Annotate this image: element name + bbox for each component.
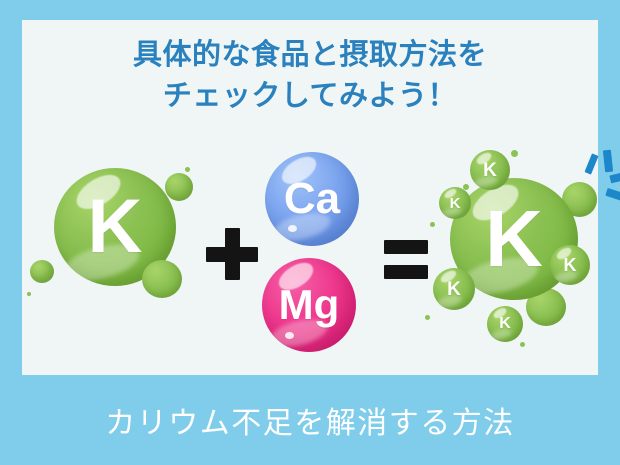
bubble-satellite-k-upper-left: K: [439, 187, 471, 219]
bubble-satellite-k-top: K: [470, 150, 510, 190]
bubble-satellite-left-bottom: [142, 260, 182, 298]
equation-row: K + Ca Mg =: [22, 140, 598, 365]
plus-bar-vertical: [225, 228, 240, 280]
sparkle-ray-1: [585, 153, 599, 174]
bottom-banner: カリウム不足を解消する方法: [0, 375, 620, 465]
speck-right-a: [511, 150, 518, 157]
satellite-label-k-lower-left: K: [447, 280, 461, 299]
banner-title: カリウム不足を解消する方法: [105, 398, 515, 442]
bubble-calcium: Ca: [265, 152, 359, 246]
sparkle-ray-2: [603, 150, 613, 173]
bubble-label-k-right: K: [485, 199, 543, 279]
bubble-satellite-left-lower: [30, 260, 54, 283]
sparkle-ray-3: [609, 171, 620, 184]
equals-bar-bottom: [384, 265, 428, 279]
operator-plus: +: [206, 228, 258, 280]
infographic-root: 具体的な食品と摂取方法を チェックしてみよう！ K + Ca Mg: [0, 0, 620, 465]
headline-line-2: チェックしてみよう！: [0, 75, 620, 116]
bubble-label-mg: Mg: [279, 284, 340, 326]
bubble-satellite-k-lower-left: K: [433, 268, 475, 310]
operator-equals: =: [384, 240, 428, 280]
speck-right-c: [430, 222, 435, 227]
bubble-satellite-k-bottom: K: [487, 306, 523, 342]
speck-left-b: [27, 292, 31, 296]
satellite-label-k-upper-left: K: [450, 196, 461, 211]
page-title: 具体的な食品と摂取方法を チェックしてみよう！: [0, 34, 620, 116]
bubble-satellite-k-right: K: [550, 245, 590, 285]
satellite-label-k-bottom: K: [499, 316, 511, 332]
speck-right-e: [425, 315, 430, 320]
bubble-satellite-left-top: [165, 173, 193, 201]
bubble-label-k-left: K: [88, 189, 143, 265]
sparkle-ray-4: [605, 188, 620, 202]
satellite-label-k-top: K: [483, 161, 497, 180]
bubble-magnesium: Mg: [262, 258, 356, 352]
bubble-label-ca: Ca: [284, 177, 340, 221]
headline-line-1: 具体的な食品と摂取方法を: [0, 34, 620, 75]
satellite-label-k-right: K: [564, 256, 577, 274]
equals-bar-top: [384, 240, 428, 254]
speck-right-g: [520, 342, 525, 347]
speck-left-a: [185, 167, 190, 172]
